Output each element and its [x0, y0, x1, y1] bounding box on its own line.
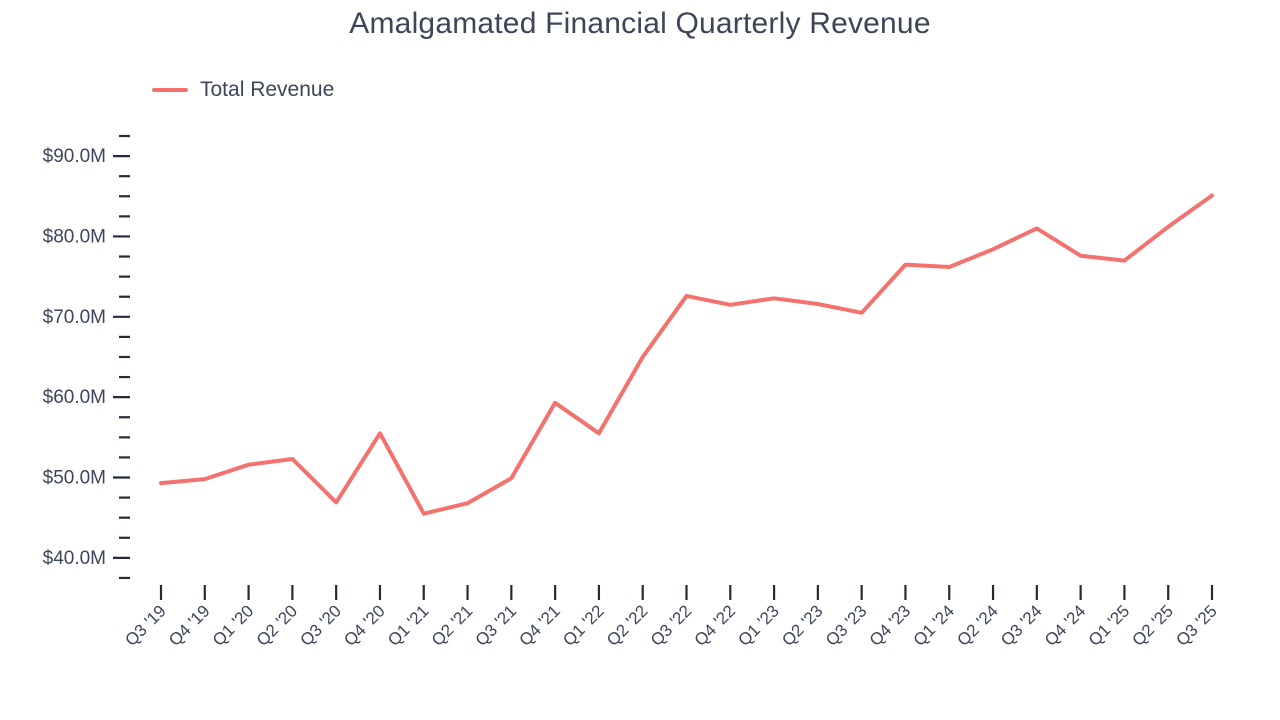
- series-line-total-revenue: [161, 196, 1212, 514]
- y-axis-labels: $40.0M$50.0M$60.0M$70.0M$80.0M$90.0M: [43, 146, 106, 569]
- x-tick-label: Q2 '20: [253, 601, 301, 649]
- x-tick-label: Q3 '20: [297, 601, 345, 649]
- x-tick-label: Q4 '20: [340, 601, 388, 649]
- revenue-line-chart: Amalgamated Financial Quarterly Revenue …: [0, 0, 1280, 720]
- x-tick-label: Q1 '24: [910, 601, 958, 649]
- x-tick-label: Q4 '19: [165, 601, 213, 649]
- y-tick-label: $60.0M: [43, 387, 106, 408]
- x-tick-label: Q2 '25: [1129, 601, 1177, 649]
- y-axis-ticks: [113, 136, 130, 578]
- x-tick-label: Q3 '23: [822, 601, 870, 649]
- x-axis-ticks: [161, 585, 1212, 600]
- x-tick-label: Q4 '24: [1041, 601, 1089, 649]
- x-tick-label: Q4 '22: [691, 601, 739, 649]
- x-tick-label: Q3 '21: [472, 601, 520, 649]
- y-tick-label: $50.0M: [43, 468, 106, 489]
- y-tick-label: $70.0M: [43, 307, 106, 328]
- x-tick-label: Q4 '21: [515, 601, 563, 649]
- x-tick-label: Q2 '23: [778, 601, 826, 649]
- x-tick-label: Q1 '22: [559, 601, 607, 649]
- x-tick-label: Q1 '25: [1085, 601, 1133, 649]
- chart-plot-area: $40.0M$50.0M$60.0M$70.0M$80.0M$90.0M Q3 …: [0, 0, 1280, 720]
- y-tick-label: $40.0M: [43, 548, 106, 569]
- x-tick-label: Q2 '21: [428, 601, 476, 649]
- x-tick-label: Q2 '24: [953, 601, 1001, 649]
- x-tick-label: Q3 '19: [121, 601, 169, 649]
- x-tick-label: Q3 '24: [997, 601, 1045, 649]
- x-tick-label: Q3 '22: [647, 601, 695, 649]
- x-tick-label: Q4 '23: [866, 601, 914, 649]
- y-tick-label: $90.0M: [43, 146, 106, 167]
- x-tick-label: Q3 '25: [1172, 601, 1220, 649]
- y-tick-label: $80.0M: [43, 226, 106, 247]
- x-tick-label: Q1 '23: [734, 601, 782, 649]
- x-tick-label: Q1 '21: [384, 601, 432, 649]
- x-axis-labels: Q3 '19Q4 '19Q1 '20Q2 '20Q3 '20Q4 '20Q1 '…: [121, 601, 1220, 649]
- x-tick-label: Q1 '20: [209, 601, 257, 649]
- x-tick-label: Q2 '22: [603, 601, 651, 649]
